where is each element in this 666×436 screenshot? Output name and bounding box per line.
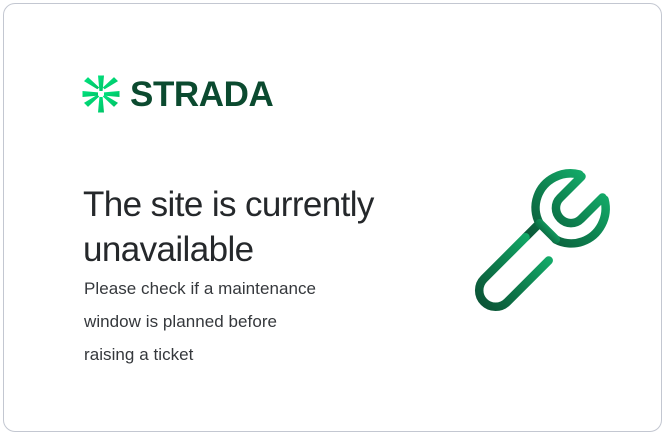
description-line: Please check if a maintenance [84,272,394,305]
brand-logo: STRADA [81,72,273,116]
error-page: STRADA The site is currently unavailable… [0,0,666,436]
brand-wordmark: STRADA [130,77,273,112]
description-line: window is planned before [84,305,394,338]
strada-asterisk-star-icon [81,74,121,114]
page-description: Please check if a maintenance window is … [84,272,394,371]
status-card: STRADA The site is currently unavailable… [3,3,662,432]
page-title: The site is currently unavailable [83,182,423,272]
wrench-icon [459,156,619,316]
maintenance-illustration [459,156,619,316]
description-line: raising a ticket [84,338,394,371]
